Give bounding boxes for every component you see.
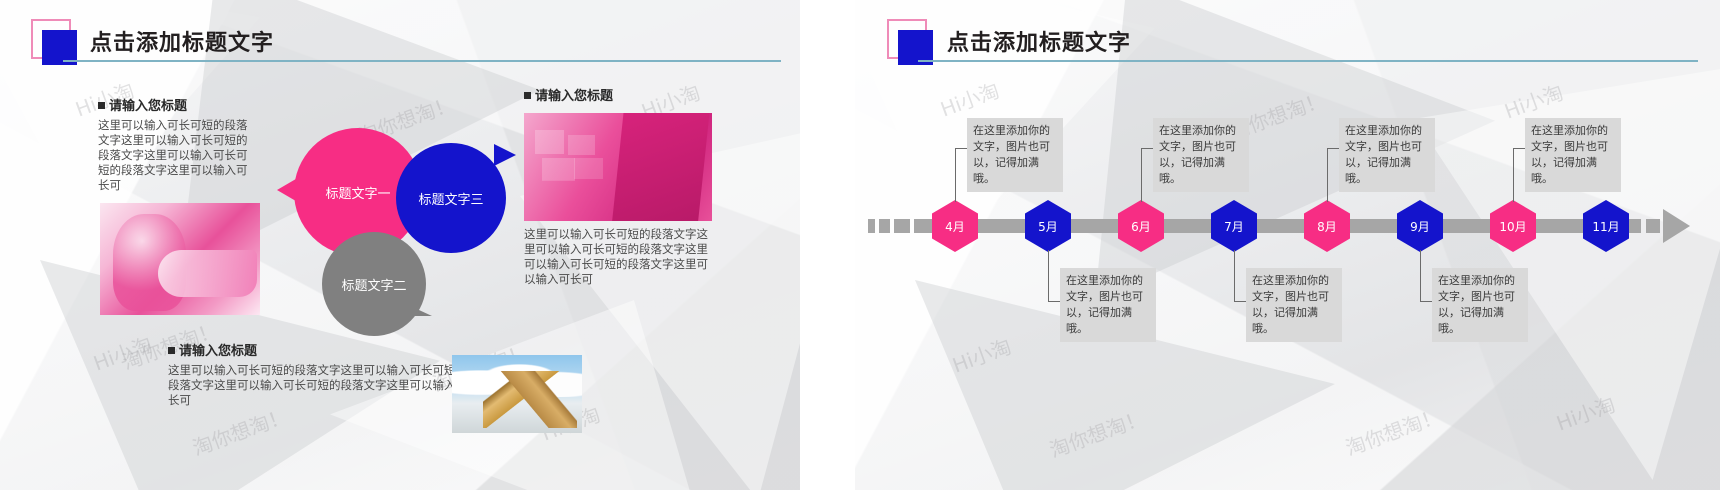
text-block-top-right-body: 这里可以输入可长可短的段落文字这里可以输入可长可短的段落文字这里可以输入可长可短… xyxy=(524,227,714,287)
timeline-arrow-icon xyxy=(1663,209,1690,243)
node-label: 5月 xyxy=(1038,218,1058,235)
leader-line xyxy=(1327,148,1339,149)
timeline-dash xyxy=(1627,219,1641,233)
city-growth-photo xyxy=(452,355,582,433)
leader-line xyxy=(955,148,956,202)
leader-line xyxy=(1234,250,1235,302)
node-label: 11月 xyxy=(1592,218,1619,235)
bubble-pink-tail xyxy=(277,176,301,204)
timeline-callout[interactable]: 在这里添加你的文字，图片也可以，记得加满哦。 xyxy=(1432,268,1528,342)
slide-header: 点击添加标题文字 xyxy=(0,0,800,70)
bubble-label: 标题文字二 xyxy=(341,275,406,294)
block-heading: 请输入您标题 xyxy=(98,95,258,114)
node-label: 7月 xyxy=(1224,218,1244,235)
timeline-callout[interactable]: 在这里添加你的文字，图片也可以，记得加满哦。 xyxy=(1060,268,1156,342)
presentation-stage: Hi小淘 淘你想淘！ Hi小淘 淘你想淘！ Hi小淘 淘你想淘！ Hi小淘 淘你… xyxy=(0,0,1720,490)
timeline-dash xyxy=(879,219,890,233)
bubble-label: 标题文字一 xyxy=(325,183,390,202)
handshake-photo xyxy=(100,203,260,315)
touchscreen-photo xyxy=(524,113,712,221)
header-rule xyxy=(63,60,781,62)
timeline-dash xyxy=(894,219,910,233)
bullet-square-icon xyxy=(98,102,105,109)
leader-line xyxy=(1048,301,1060,302)
leader-line xyxy=(1420,250,1421,302)
node-label: 6月 xyxy=(1131,218,1151,235)
slide-gap xyxy=(800,0,855,490)
block-body: 这里可以输入可长可短的段落文字这里可以输入可长可短的段落文字这里可以输入可长可短… xyxy=(168,363,468,408)
node-label: 4月 xyxy=(945,218,965,235)
bullet-square-icon xyxy=(524,92,531,99)
timeline-callout[interactable]: 在这里添加你的文字，图片也可以，记得加满哦。 xyxy=(1153,118,1249,192)
block-body: 这里可以输入可长可短的段落文字这里可以输入可长可短的段落文字这里可以输入可长可短… xyxy=(98,118,258,193)
node-label: 8月 xyxy=(1317,218,1337,235)
text-block-top-right: 请输入您标题 xyxy=(524,85,709,108)
block-heading: 请输入您标题 xyxy=(524,85,709,104)
leader-line xyxy=(1327,148,1328,202)
block-body: 这里可以输入可长可短的段落文字这里可以输入可长可短的段落文字这里可以输入可长可短… xyxy=(524,227,714,287)
slide-header: 点击添加标题文字 xyxy=(855,0,1720,70)
page-title: 点击添加标题文字 xyxy=(90,25,274,57)
bubble-gray[interactable]: 标题文字二 xyxy=(322,232,426,336)
text-block-bottom: 请输入您标题 这里可以输入可长可短的段落文字这里可以输入可长可短的段落文字这里可… xyxy=(168,340,468,408)
leader-line xyxy=(1420,301,1432,302)
leader-line xyxy=(1234,301,1246,302)
leader-line xyxy=(1513,148,1514,202)
page-title: 点击添加标题文字 xyxy=(947,25,1131,57)
timeline-callout[interactable]: 在这里添加你的文字，图片也可以，记得加满哦。 xyxy=(1339,118,1435,192)
timeline-dash xyxy=(868,219,875,233)
leader-line xyxy=(1141,148,1142,202)
timeline-callout[interactable]: 在这里添加你的文字，图片也可以，记得加满哦。 xyxy=(967,118,1063,192)
leader-line xyxy=(1141,148,1153,149)
header-rule xyxy=(918,60,1698,62)
bullet-square-icon xyxy=(168,347,175,354)
timeline-callout[interactable]: 在这里添加你的文字，图片也可以，记得加满哦。 xyxy=(1525,118,1621,192)
leader-line xyxy=(955,148,967,149)
text-block-top-left: 请输入您标题 这里可以输入可长可短的段落文字这里可以输入可长可短的段落文字这里可… xyxy=(98,95,258,193)
bubble-blue-tail xyxy=(494,144,516,166)
block-heading: 请输入您标题 xyxy=(168,340,468,359)
timeline-callout[interactable]: 在这里添加你的文字，图片也可以，记得加满哦。 xyxy=(1246,268,1342,342)
bubble-label: 标题文字三 xyxy=(418,189,483,208)
slide-left: Hi小淘 淘你想淘！ Hi小淘 淘你想淘！ Hi小淘 淘你想淘！ Hi小淘 淘你… xyxy=(0,0,800,490)
leader-line xyxy=(1513,148,1525,149)
bubble-gray-tail xyxy=(406,304,432,316)
node-label: 9月 xyxy=(1410,218,1430,235)
slide-right: Hi小淘 淘你想淘！ Hi小淘 Hi小淘 淘你想淘！ 淘你想淘！ Hi小淘 点击… xyxy=(855,0,1720,490)
timeline-dash xyxy=(1646,219,1660,233)
node-label: 10月 xyxy=(1499,218,1526,235)
leader-line xyxy=(1048,250,1049,302)
bubble-blue[interactable]: 标题文字三 xyxy=(396,143,506,253)
